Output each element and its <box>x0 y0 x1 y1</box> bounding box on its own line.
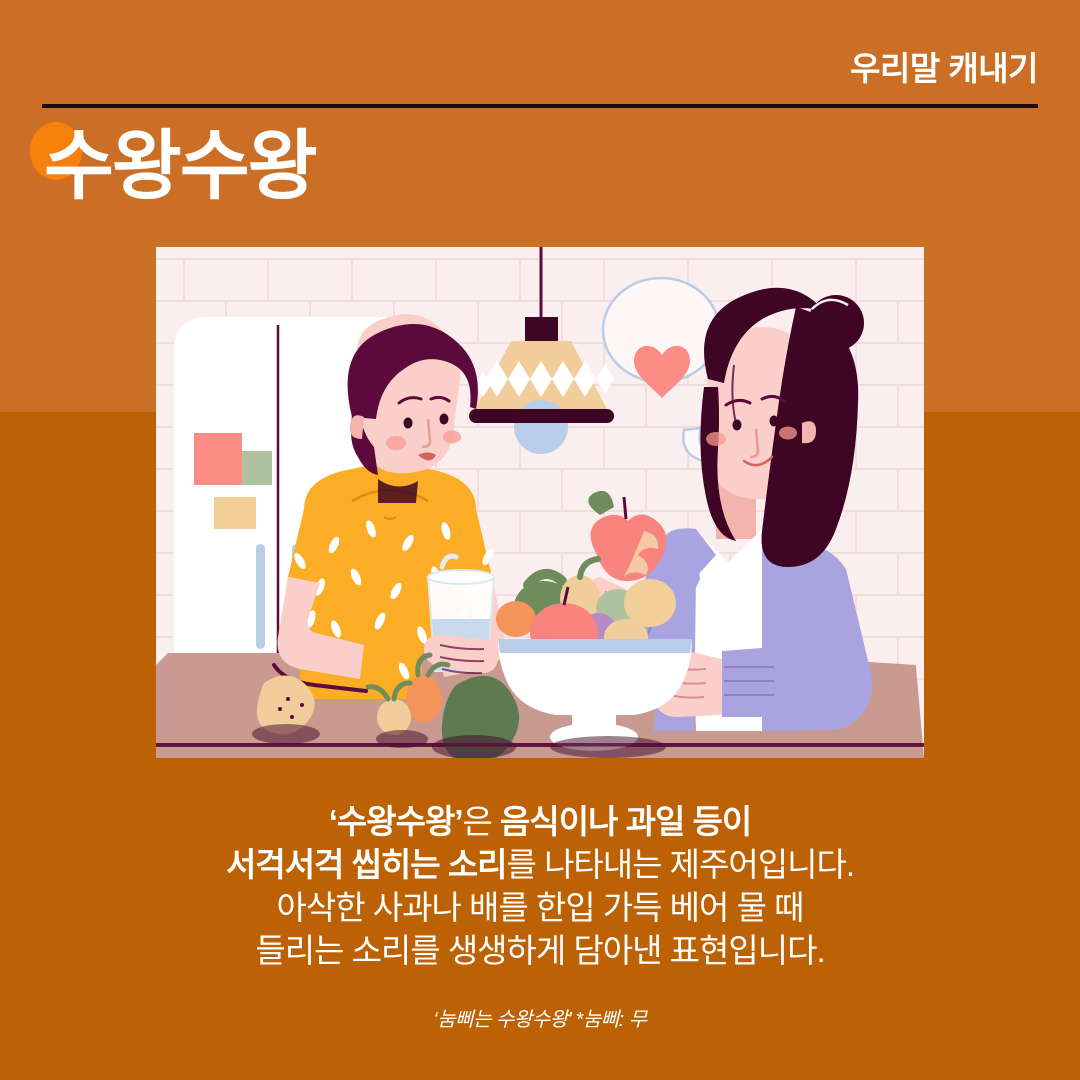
magnet-red <box>194 433 242 485</box>
header-divider <box>42 104 1038 108</box>
desc-seg-bold: 서걱서걱 씹히는 소리 <box>226 846 507 883</box>
kitchen-couple-eating-illustration <box>156 247 924 758</box>
desc-seg: 은 <box>463 803 501 840</box>
carrot-in-bowl <box>496 601 536 637</box>
water-glass <box>424 556 500 673</box>
example-footnote: ‘눔삐는 수왕수왕’ *눔삐: 무 <box>0 1006 1080 1034</box>
desc-seg-bold: 음식이나 과일 등이 <box>500 803 751 840</box>
description-line-2: 서걱서걱 씹히는 소리를 나타내는 제주어입니다. <box>0 843 1080 886</box>
desc-seg: 를 나타내는 제주어입니다. <box>507 846 854 883</box>
info-card: 우리말 캐내기 수왕수왕 <box>0 0 1080 1080</box>
description-text: ‘수왕수왕’은 음식이나 과일 등이 서걱서걱 씹히는 소리를 나타내는 제주어… <box>0 800 1080 972</box>
magnet-tan <box>214 497 256 529</box>
description-line-3: 아삭한 사과나 배를 한입 가득 베어 물 때 <box>0 886 1080 929</box>
page-title: 수왕수왕 <box>44 129 316 205</box>
magnet-green <box>242 451 272 485</box>
series-label: 우리말 캐내기 <box>850 52 1038 85</box>
description-line-1: ‘수왕수왕’은 음식이나 과일 등이 <box>0 800 1080 843</box>
hair-bun <box>808 295 864 351</box>
description-line-4: 들리는 소리를 생생하게 담아낸 표현입니다. <box>0 929 1080 972</box>
term-quoted: ‘수왕수왕’ <box>329 803 463 840</box>
